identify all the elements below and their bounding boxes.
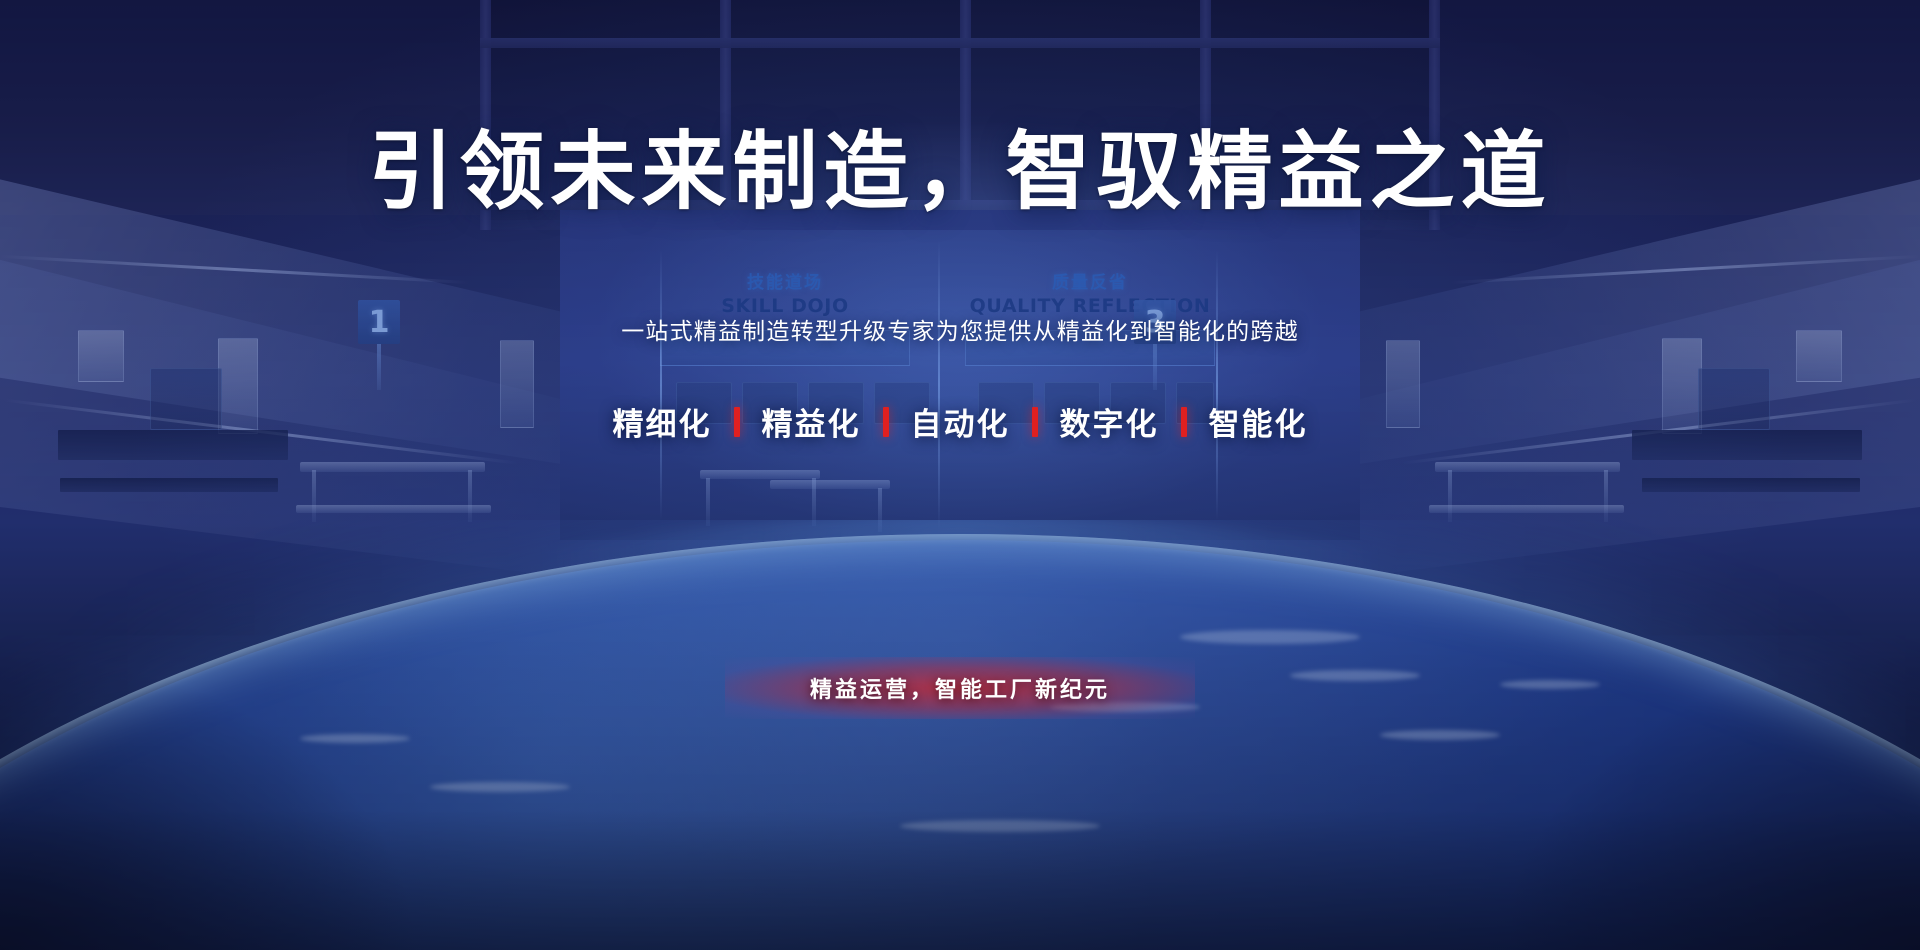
page-title: 引领未来制造，智驭精益之道 — [368, 128, 1551, 217]
keyword-item: 精益化 — [762, 399, 861, 444]
banner-text-overlay: 引领未来制造，智驭精益之道 一站式精益制造转型升级专家为您提供从精益化到智能化的… — [0, 0, 1920, 950]
keyword-separator-icon — [1181, 407, 1187, 437]
keyword-separator-icon — [1032, 407, 1038, 437]
keyword-separator-icon — [734, 407, 740, 437]
hero-banner: 技能道场 SKILL DOJO 质量反省 QUALITY REFLECTION … — [0, 0, 1920, 950]
keyword-list: 精细化 精益化 自动化 数字化 智能化 — [613, 399, 1308, 444]
footer-badge-label: 精益运营，智能工厂新纪元 — [810, 672, 1110, 704]
keyword-separator-icon — [883, 407, 889, 437]
keyword-item: 自动化 — [911, 399, 1010, 444]
banner-subtitle: 一站式精益制造转型升级专家为您提供从精益化到智能化的跨越 — [621, 312, 1299, 346]
keyword-item: 数字化 — [1060, 399, 1159, 444]
keyword-item: 精细化 — [613, 399, 712, 444]
keyword-item: 智能化 — [1209, 399, 1308, 444]
footer-badge: 精益运营，智能工厂新纪元 — [725, 657, 1195, 719]
